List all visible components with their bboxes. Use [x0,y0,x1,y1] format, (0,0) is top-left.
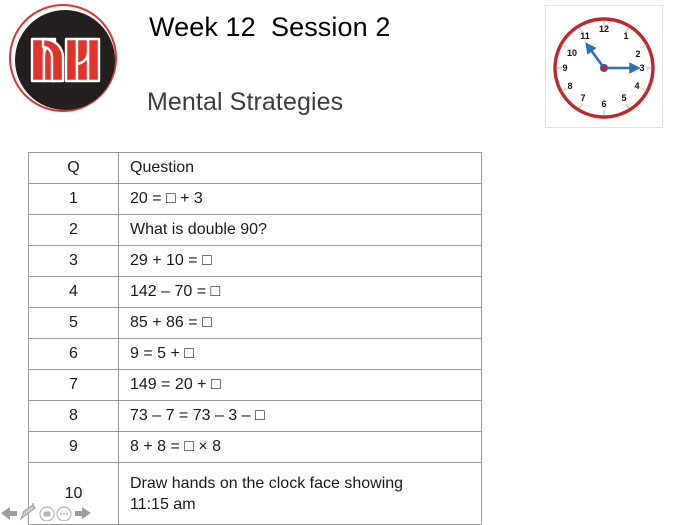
table-body: 1 20 = □ + 3 2 What is double 90? 3 29 +… [29,184,482,525]
annotation-toolbar[interactable] [0,503,100,521]
table-row: 2 What is double 90? [29,215,482,246]
table-header-row: Q Question [29,153,482,184]
row-number: 6 [29,339,119,370]
row-question: 8 + 8 = □ × 8 [119,432,482,463]
nh-logo [9,4,121,116]
table-row: 6 9 = 5 + □ [29,339,482,370]
logo-monogram-icon [9,4,121,116]
table-row: 9 8 + 8 = □ × 8 [29,432,482,463]
row-number: 7 [29,370,119,401]
questions-table: Q Question 1 20 = □ + 3 2 What is double… [28,152,482,525]
next-arrow-icon [75,507,91,519]
clock-face-image: 12 1 2 3 4 5 6 7 8 9 10 11 [545,5,663,128]
table-row: 8 73 – 7 = 73 – 3 – □ [29,401,482,432]
row-question: 20 = □ + 3 [119,184,482,215]
row-number: 5 [29,308,119,339]
column-header-question: Question [119,153,482,184]
svg-text:8: 8 [567,81,572,91]
row-number: 2 [29,215,119,246]
more-options-icon [57,507,71,521]
row-number: 8 [29,401,119,432]
svg-text:1: 1 [623,31,628,41]
row-question: 142 – 70 = □ [119,277,482,308]
pointer-icon [1,507,17,520]
row-question: 85 + 86 = □ [119,308,482,339]
row-question: What is double 90? [119,215,482,246]
row-number: 4 [29,277,119,308]
table-row: 7 149 = 20 + □ [29,370,482,401]
row-question: 29 + 10 = □ [119,246,482,277]
svg-text:2: 2 [635,49,640,59]
svg-text:9: 9 [562,63,567,73]
svg-text:11: 11 [580,31,590,41]
table-row: 3 29 + 10 = □ [29,246,482,277]
svg-text:5: 5 [621,93,626,103]
row-number: 9 [29,432,119,463]
pen-icon [21,503,35,519]
column-header-q: Q [29,153,119,184]
svg-text:4: 4 [634,81,639,91]
svg-text:12: 12 [599,24,609,34]
row-number: 1 [29,184,119,215]
svg-text:3: 3 [639,63,644,73]
row-question: 9 = 5 + □ [119,339,482,370]
clock-icon: 12 1 2 3 4 5 6 7 8 9 10 11 [546,6,662,127]
row-question: 73 – 7 = 73 – 3 – □ [119,401,482,432]
table-row: 1 20 = □ + 3 [29,184,482,215]
row-question: 149 = 20 + □ [119,370,482,401]
svg-text:6: 6 [601,99,606,109]
row-number: 3 [29,246,119,277]
page-subtitle: Mental Strategies [147,86,343,118]
row-question: Draw hands on the clock face showing 11:… [119,463,482,525]
svg-text:7: 7 [580,93,585,103]
table-row: 4 142 – 70 = □ [29,277,482,308]
svg-text:10: 10 [567,48,577,58]
highlighter-icon [40,507,54,521]
table-row: 5 85 + 86 = □ [29,308,482,339]
page-title: Week 12 Session 2 [149,10,390,44]
